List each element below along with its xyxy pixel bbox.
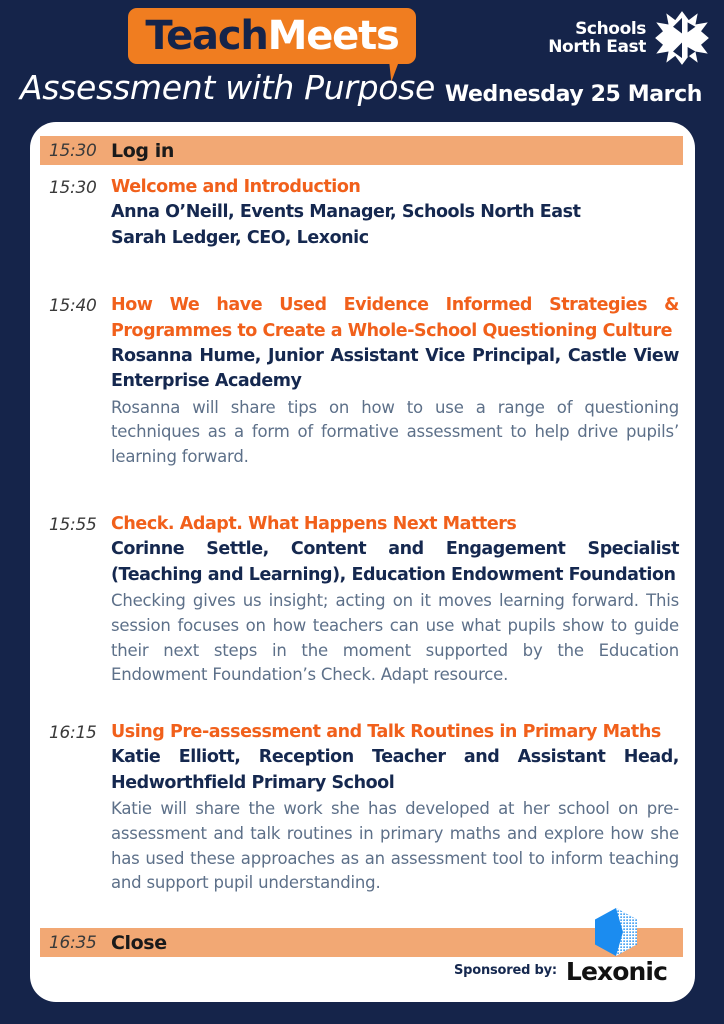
session-time: 15:55 <box>49 512 111 535</box>
session-body: Welcome and Introduction Anna O’Neill, E… <box>111 175 683 251</box>
session-speaker: Corinne Settle, Content and Engagement S… <box>111 537 679 588</box>
schools-north-east-wordmark: Schools North East <box>548 20 646 56</box>
sponsor-block: Sponsored by: Lexonic <box>454 907 667 984</box>
event-programme-poster: TeachMeets Assessment with Purpose Schoo… <box>0 0 724 1024</box>
session-body: Using Pre-assessment and Talk Routines i… <box>111 720 683 896</box>
login-time: 15:30 <box>49 141 111 161</box>
login-label: Log in <box>111 140 174 162</box>
sponsored-by-label: Sponsored by: <box>454 963 557 984</box>
session-speaker: Sarah Ledger, CEO, Lexonic <box>111 226 679 251</box>
lexonic-logo: Lexonic <box>566 907 667 984</box>
org-line-1: Schools <box>548 20 646 38</box>
session-title: How We have Used Evidence Informed Strat… <box>111 293 679 344</box>
close-label: Close <box>111 932 167 954</box>
session-speaker: Rosanna Hume, Junior Assistant Vice Prin… <box>111 344 679 395</box>
section-spacer <box>40 470 683 502</box>
session-title: Using Pre-assessment and Talk Routines i… <box>111 720 679 745</box>
session-description: Katie will share the work she has develo… <box>111 797 679 896</box>
session-body: Check. Adapt. What Happens Next Matters … <box>111 512 683 688</box>
section-spacer <box>40 688 683 710</box>
schools-north-east-logo: Schools North East <box>548 10 710 66</box>
teachmeets-word-meets: Meets <box>268 13 399 59</box>
session-title: Check. Adapt. What Happens Next Matters <box>111 512 679 537</box>
session-row: 15:55 Check. Adapt. What Happens Next Ma… <box>40 512 683 688</box>
session-row: 15:30 Welcome and Introduction Anna O’Ne… <box>40 175 683 251</box>
session-time: 16:15 <box>49 720 111 743</box>
schedule-bar-login: 15:30 Log in <box>40 136 683 165</box>
session-row: 16:15 Using Pre-assessment and Talk Rout… <box>40 720 683 896</box>
event-date: Wednesday 25 March <box>445 82 702 107</box>
close-time: 16:35 <box>49 933 111 953</box>
teachmeets-wordmark: TeachMeets <box>145 16 398 56</box>
org-line-2: North East <box>548 38 646 56</box>
poster-subtitle: Assessment with Purpose <box>20 68 435 107</box>
poster-header: TeachMeets Assessment with Purpose Schoo… <box>0 0 724 118</box>
session-speaker: Katie Elliott, Reception Teacher and Ass… <box>111 745 679 796</box>
lexonic-hexagon-icon <box>593 907 639 957</box>
lexonic-wordmark: Lexonic <box>566 959 667 984</box>
section-spacer <box>40 251 683 283</box>
teachmeets-word-teach: Teach <box>145 13 267 59</box>
session-description: Checking gives us insight; acting on it … <box>111 589 679 688</box>
programme-card: 15:30 Log in 15:30 Welcome and Introduct… <box>30 122 695 1002</box>
session-description: Rosanna will share tips on how to use a … <box>111 396 679 470</box>
session-time: 15:40 <box>49 293 111 316</box>
starburst-icon <box>654 10 710 66</box>
session-speaker: Anna O’Neill, Events Manager, Schools No… <box>111 200 679 225</box>
session-time: 15:30 <box>49 175 111 198</box>
teachmeets-logo: TeachMeets <box>128 8 416 64</box>
session-body: How We have Used Evidence Informed Strat… <box>111 293 683 470</box>
session-title: Welcome and Introduction <box>111 175 679 200</box>
session-row: 15:40 How We have Used Evidence Informed… <box>40 293 683 470</box>
